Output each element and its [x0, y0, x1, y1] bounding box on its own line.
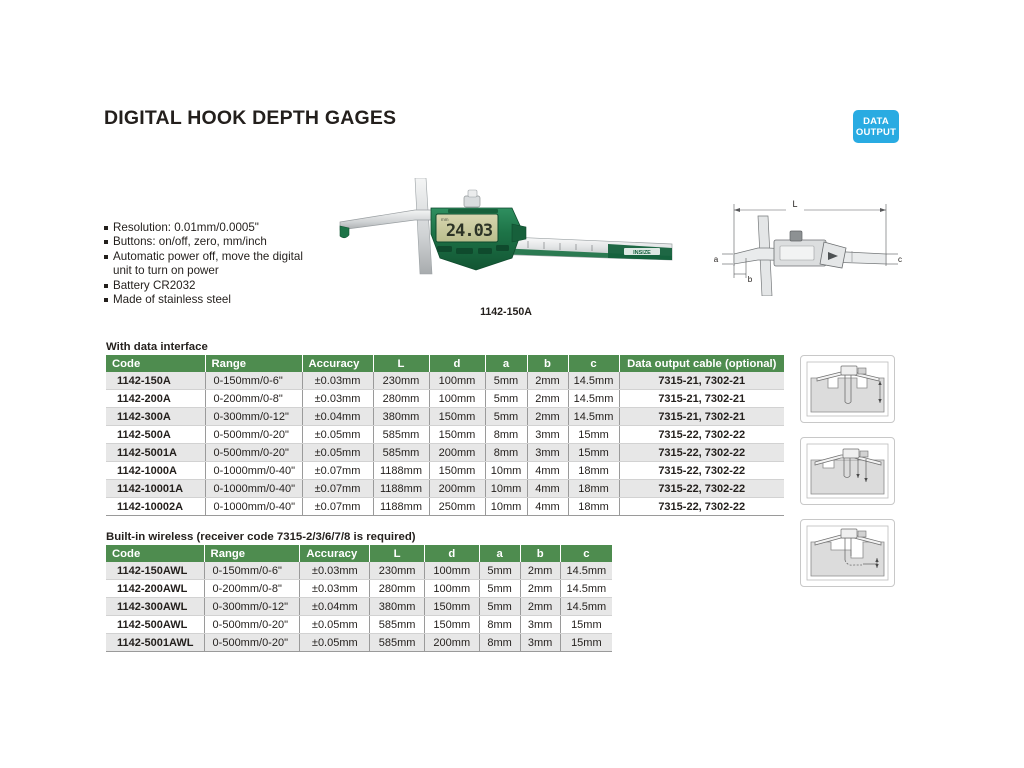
- table-cell: 150mm: [424, 598, 479, 616]
- table-cell: 0-150mm/0-6": [205, 372, 302, 390]
- table-cell: 0-300mm/0-12": [205, 408, 302, 426]
- table-cell: 8mm: [485, 444, 527, 462]
- table-cell: 10mm: [485, 498, 527, 516]
- table-cell: 100mm: [429, 372, 485, 390]
- table-row: 1142-1000A0-1000mm/0-40"±0.07mm1188mm150…: [106, 462, 784, 480]
- data-output-badge-line1: DATA: [863, 116, 889, 127]
- table-cell: 7315-21, 7302-21: [619, 408, 784, 426]
- cell-code: 1142-1000A: [106, 462, 205, 480]
- column-header: Data output cable (optional): [619, 355, 784, 372]
- table-cell: 2mm: [520, 598, 560, 616]
- table-cell: 0-500mm/0-20": [205, 426, 302, 444]
- table-cell: 15mm: [560, 634, 612, 652]
- table-cell: 0-200mm/0-8": [204, 580, 300, 598]
- column-header: Accuracy: [300, 545, 370, 562]
- table-cell: 0-500mm/0-20": [204, 616, 300, 634]
- table-row: 1142-150AWL0-150mm/0-6"±0.03mm230mm100mm…: [106, 562, 612, 580]
- table-cell: 8mm: [479, 634, 520, 652]
- feature-item-label: Resolution: 0.01mm/0.0005": [113, 221, 319, 235]
- table-cell: ±0.05mm: [300, 634, 370, 652]
- feature-item-label: Battery CR2032: [113, 279, 319, 293]
- table-cell: 3mm: [527, 426, 568, 444]
- table-cell: 18mm: [568, 498, 619, 516]
- table-cell: 2mm: [527, 408, 568, 426]
- table-cell: 100mm: [424, 562, 479, 580]
- table-row: 1142-5001A0-500mm/0-20"±0.05mm585mm200mm…: [106, 444, 784, 462]
- table-cell: ±0.03mm: [302, 372, 373, 390]
- spec-table-data-interface-head: CodeRangeAccuracyLdabcData output cable …: [106, 355, 784, 372]
- table-cell: 2mm: [520, 580, 560, 598]
- cell-code: 1142-5001AWL: [106, 634, 204, 652]
- table-cell: 14.5mm: [560, 598, 612, 616]
- svg-text:INSIZE: INSIZE: [633, 250, 651, 256]
- spec-table-wireless-body: 1142-150AWL0-150mm/0-6"±0.03mm230mm100mm…: [106, 562, 612, 652]
- feature-item: Resolution: 0.01mm/0.0005": [104, 221, 319, 235]
- cell-code: 1142-500AWL: [106, 616, 204, 634]
- column-header: a: [485, 355, 527, 372]
- table-row: 1142-200AWL0-200mm/0-8"±0.03mm280mm100mm…: [106, 580, 612, 598]
- table-row: 1142-500AWL0-500mm/0-20"±0.05mm585mm150m…: [106, 616, 612, 634]
- column-header: Range: [204, 545, 300, 562]
- table-cell: 100mm: [429, 390, 485, 408]
- table-cell: 150mm: [429, 462, 485, 480]
- table-cell: 15mm: [568, 426, 619, 444]
- table-header-row: CodeRangeAccuracyLdabc: [106, 545, 612, 562]
- table-cell: ±0.05mm: [302, 426, 373, 444]
- column-header: d: [429, 355, 485, 372]
- table-cell: 585mm: [370, 616, 425, 634]
- table-cell: 15mm: [568, 444, 619, 462]
- table-cell: 4mm: [527, 462, 568, 480]
- table-cell: 18mm: [568, 480, 619, 498]
- table-cell: ±0.03mm: [300, 562, 370, 580]
- table-cell: ±0.04mm: [300, 598, 370, 616]
- spec-table-wireless: CodeRangeAccuracyLdabc 1142-150AWL0-150m…: [106, 545, 612, 652]
- table-cell: 14.5mm: [568, 408, 619, 426]
- table-cell: 5mm: [479, 598, 520, 616]
- table-cell: 3mm: [520, 616, 560, 634]
- spec-table-data-interface: CodeRangeAccuracyLdabcData output cable …: [106, 355, 784, 516]
- feature-item-label: Automatic power off, move the digital un…: [113, 250, 319, 279]
- cell-code: 1142-200AWL: [106, 580, 204, 598]
- table-cell: 200mm: [429, 480, 485, 498]
- column-header: Code: [106, 355, 205, 372]
- feature-item: Automatic power off, move the digital un…: [104, 250, 319, 279]
- table-cell: 7315-22, 7302-22: [619, 480, 784, 498]
- column-header: b: [520, 545, 560, 562]
- application-groove-depth-svg: [801, 356, 894, 422]
- hook-depth-gage-illustration: INSIZE 24.03 mm: [336, 178, 676, 298]
- column-header: a: [479, 545, 520, 562]
- table-cell: 3mm: [520, 634, 560, 652]
- table-row: 1142-10001A0-1000mm/0-40"±0.07mm1188mm20…: [106, 480, 784, 498]
- cell-code: 1142-10001A: [106, 480, 205, 498]
- dimension-label-c: c: [898, 255, 902, 264]
- page-title: DIGITAL HOOK DEPTH GAGES: [104, 107, 396, 130]
- svg-text:mm: mm: [441, 217, 449, 222]
- table-cell: 7315-21, 7302-21: [619, 372, 784, 390]
- spec-table-data-interface-body: 1142-150A0-150mm/0-6"±0.03mm230mm100mm5m…: [106, 372, 784, 516]
- lcd-reading: 24.03: [446, 221, 493, 241]
- bullet-square-icon: [104, 235, 113, 244]
- table-row: 1142-500A0-500mm/0-20"±0.05mm585mm150mm8…: [106, 426, 784, 444]
- cell-code: 1142-10002A: [106, 498, 205, 516]
- column-header: b: [527, 355, 568, 372]
- table-cell: 380mm: [373, 408, 429, 426]
- table-cell: 4mm: [527, 498, 568, 516]
- table-cell: ±0.07mm: [302, 480, 373, 498]
- table-cell: ±0.04mm: [302, 408, 373, 426]
- table-cell: 4mm: [527, 480, 568, 498]
- table-cell: 7315-21, 7302-21: [619, 390, 784, 408]
- table-row: 1142-300AWL0-300mm/0-12"±0.04mm380mm150m…: [106, 598, 612, 616]
- table-cell: 150mm: [429, 426, 485, 444]
- table-cell: 585mm: [373, 426, 429, 444]
- feature-list: Resolution: 0.01mm/0.0005"Buttons: on/of…: [104, 221, 319, 307]
- table-cell: 5mm: [485, 372, 527, 390]
- feature-item-label: Buttons: on/off, zero, mm/inch: [113, 235, 319, 249]
- table-cell: 0-1000mm/0-40": [205, 498, 302, 516]
- table-cell: 0-1000mm/0-40": [205, 462, 302, 480]
- table-cell: 10mm: [485, 480, 527, 498]
- table-cell: 5mm: [479, 580, 520, 598]
- table-cell: 1188mm: [373, 462, 429, 480]
- dimension-diagram-svg: L a b c: [700, 178, 905, 296]
- table-cell: 0-200mm/0-8": [205, 390, 302, 408]
- table-cell: 0-500mm/0-20": [204, 634, 300, 652]
- table-cell: 14.5mm: [560, 580, 612, 598]
- feature-item: Battery CR2032: [104, 279, 319, 293]
- dimension-label-a: a: [714, 255, 719, 264]
- cell-code: 1142-200A: [106, 390, 205, 408]
- table-cell: 5mm: [485, 390, 527, 408]
- table-cell: ±0.05mm: [300, 616, 370, 634]
- cell-code: 1142-300AWL: [106, 598, 204, 616]
- table-cell: 14.5mm: [560, 562, 612, 580]
- table-cell: 8mm: [479, 616, 520, 634]
- application-undercut-depth: [800, 519, 895, 587]
- application-groove-depth: [800, 355, 895, 423]
- table-cell: 585mm: [373, 444, 429, 462]
- table-cell: 150mm: [429, 408, 485, 426]
- table-cell: 7315-22, 7302-22: [619, 426, 784, 444]
- table-cell: 0-300mm/0-12": [204, 598, 300, 616]
- column-header: Accuracy: [302, 355, 373, 372]
- table-cell: 8mm: [485, 426, 527, 444]
- column-header: Range: [205, 355, 302, 372]
- column-header: d: [424, 545, 479, 562]
- table-row: 1142-150A0-150mm/0-6"±0.03mm230mm100mm5m…: [106, 372, 784, 390]
- table-cell: 7315-22, 7302-22: [619, 498, 784, 516]
- bullet-square-icon: [104, 250, 113, 259]
- feature-item-label: Made of stainless steel: [113, 293, 319, 307]
- table-cell: 2mm: [527, 372, 568, 390]
- column-header: Code: [106, 545, 204, 562]
- table-cell: 0-500mm/0-20": [205, 444, 302, 462]
- table-cell: ±0.05mm: [302, 444, 373, 462]
- bullet-square-icon: [104, 293, 113, 302]
- table-row: 1142-5001AWL0-500mm/0-20"±0.05mm585mm200…: [106, 634, 612, 652]
- table-cell: 280mm: [370, 580, 425, 598]
- table-cell: 150mm: [424, 616, 479, 634]
- table-cell: 200mm: [429, 444, 485, 462]
- table-cell: 7315-22, 7302-22: [619, 462, 784, 480]
- table-cell: 2mm: [520, 562, 560, 580]
- table-header-row: CodeRangeAccuracyLdabcData output cable …: [106, 355, 784, 372]
- table-row: 1142-300A0-300mm/0-12"±0.04mm380mm150mm5…: [106, 408, 784, 426]
- table-cell: 5mm: [479, 562, 520, 580]
- table-cell: 14.5mm: [568, 372, 619, 390]
- table-cell: 10mm: [485, 462, 527, 480]
- table-cell: ±0.07mm: [302, 498, 373, 516]
- cell-code: 1142-5001A: [106, 444, 205, 462]
- table-cell: 1188mm: [373, 498, 429, 516]
- application-undercut-depth-svg: [801, 520, 894, 586]
- application-step-depth: [800, 437, 895, 505]
- dimension-label-L: L: [792, 199, 797, 209]
- table-cell: 100mm: [424, 580, 479, 598]
- table-cell: 250mm: [429, 498, 485, 516]
- table-cell: 230mm: [373, 372, 429, 390]
- data-output-badge-line2: OUTPUT: [856, 127, 896, 138]
- bullet-square-icon: [104, 221, 113, 230]
- feature-item: Made of stainless steel: [104, 293, 319, 307]
- column-header: c: [560, 545, 612, 562]
- data-output-badge: DATA OUTPUT: [853, 110, 899, 143]
- spec-table-wireless-head: CodeRangeAccuracyLdabc: [106, 545, 612, 562]
- cell-code: 1142-500A: [106, 426, 205, 444]
- product-photo: INSIZE 24.03 mm: [336, 178, 676, 298]
- table-cell: 15mm: [560, 616, 612, 634]
- table-cell: 18mm: [568, 462, 619, 480]
- cell-code: 1142-150A: [106, 372, 205, 390]
- table-cell: 585mm: [370, 634, 425, 652]
- column-header: L: [373, 355, 429, 372]
- table-row: 1142-200A0-200mm/0-8"±0.03mm280mm100mm5m…: [106, 390, 784, 408]
- table-row: 1142-10002A0-1000mm/0-40"±0.07mm1188mm25…: [106, 498, 784, 516]
- feature-item: Buttons: on/off, zero, mm/inch: [104, 235, 319, 249]
- product-caption: 1142-150A: [336, 306, 676, 318]
- table-cell: 0-150mm/0-6": [204, 562, 300, 580]
- table-cell: 0-1000mm/0-40": [205, 480, 302, 498]
- table-caption-wireless: Built-in wireless (receiver code 7315-2/…: [106, 531, 416, 543]
- table-cell: 7315-22, 7302-22: [619, 444, 784, 462]
- table-cell: ±0.07mm: [302, 462, 373, 480]
- table-cell: 14.5mm: [568, 390, 619, 408]
- table-cell: 3mm: [527, 444, 568, 462]
- dimension-diagram: L a b c: [700, 178, 905, 296]
- table-cell: 1188mm: [373, 480, 429, 498]
- cell-code: 1142-150AWL: [106, 562, 204, 580]
- table-cell: 380mm: [370, 598, 425, 616]
- table-cell: 200mm: [424, 634, 479, 652]
- table-cell: 2mm: [527, 390, 568, 408]
- dimension-label-b: b: [748, 275, 753, 284]
- application-step-depth-svg: [801, 438, 894, 504]
- table-caption-data-interface: With data interface: [106, 341, 208, 353]
- table-cell: ±0.03mm: [300, 580, 370, 598]
- cell-code: 1142-300A: [106, 408, 205, 426]
- table-cell: 5mm: [485, 408, 527, 426]
- bullet-square-icon: [104, 279, 113, 288]
- table-cell: 280mm: [373, 390, 429, 408]
- column-header: c: [568, 355, 619, 372]
- column-header: L: [370, 545, 425, 562]
- table-cell: 230mm: [370, 562, 425, 580]
- table-cell: ±0.03mm: [302, 390, 373, 408]
